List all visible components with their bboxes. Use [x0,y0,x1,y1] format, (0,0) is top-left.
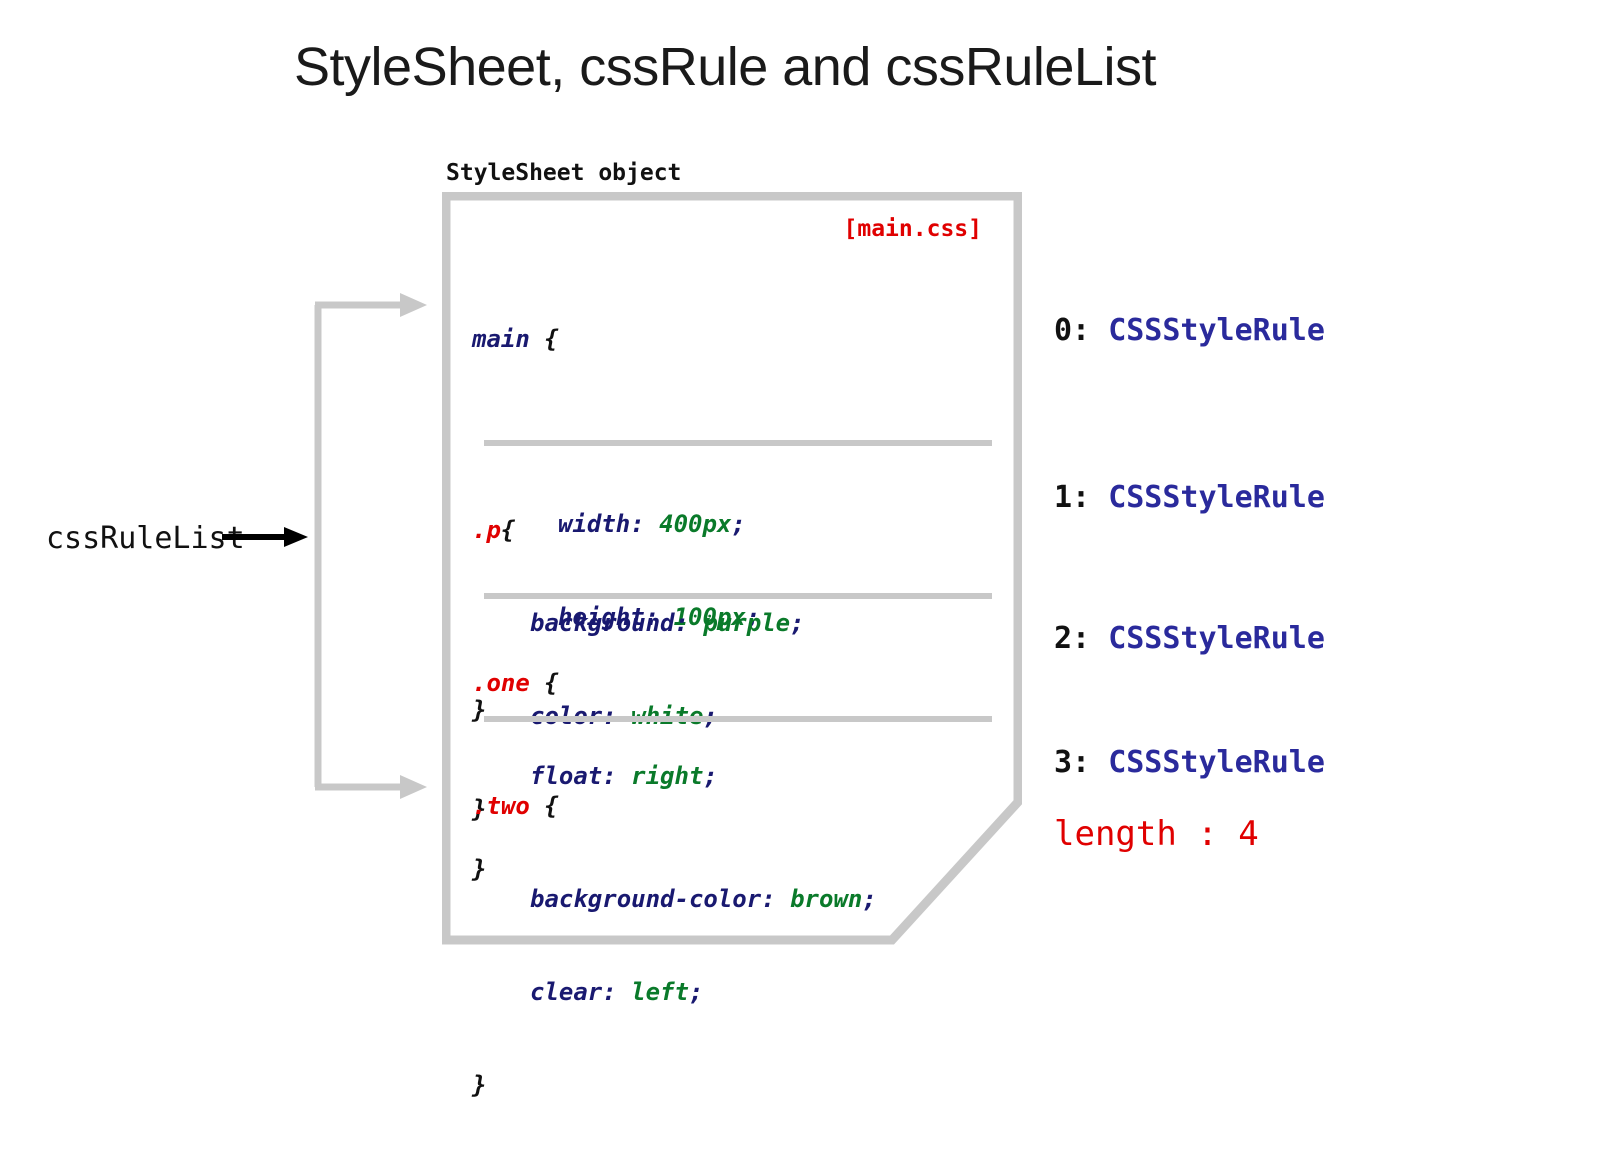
stylesheet-object-caption: StyleSheet object [446,160,681,186]
cssrulelist-bracket-connector [300,286,435,810]
rule-type-3: CSSStyleRule [1108,745,1325,780]
css-rule-3-value-1: left [631,978,689,1006]
css-rule-3-value-0: brown [790,885,862,913]
rule-index-label-1: 1: CSSStyleRule [1054,480,1325,515]
rule-index-label-0: 0: CSSStyleRule [1054,313,1325,348]
css-rule-1-open-brace: { [501,516,515,544]
css-rule-2-selector: .one [472,669,530,697]
css-rule-3-declaration-1: clear: left; [472,977,1012,1008]
cssrulelist-arrow-icon [222,524,308,554]
colon-icon: : [602,978,631,1006]
css-rule-3-declaration-0: background-color: brown; [472,884,1012,915]
rule-type-1: CSSStyleRule [1108,480,1325,515]
colon-icon: : [761,885,790,913]
css-rule-1-selector-line: .p{ [472,515,1012,546]
rule-index-1: 1: [1054,480,1090,515]
css-rule-0-selector-line: main { [472,324,1012,355]
css-rule-3-selector-line: .two { [472,791,1012,822]
stylesheet-box-content: [main.css] main { width: 400px; height: … [458,200,1018,952]
css-rule-2-open-brace: { [530,669,559,697]
page-title: StyleSheet, cssRule and cssRuleList [0,36,1450,98]
rule-type-2: CSSStyleRule [1108,621,1325,656]
rule-index-3: 3: [1054,745,1090,780]
css-rule-block-3: .two { background-color: brown; clear: l… [472,729,1012,1163]
css-rule-3-selector: .two [472,792,530,820]
css-rule-2-selector-line: .one { [472,668,1012,699]
rule-index-label-3: 3: CSSStyleRule [1054,745,1325,780]
css-rule-0-selector: main [472,325,530,353]
css-rule-3-close-brace: } [472,1071,486,1099]
css-rule-1-selector: .p [472,516,501,544]
rule-index-0: 0: [1054,313,1090,348]
css-rule-3-close-line: } [472,1070,1012,1101]
rule-type-0: CSSStyleRule [1108,313,1325,348]
css-rule-3-property-0: background-color [530,885,761,913]
rule-separator-2 [484,593,992,599]
rule-index-label-2: 2: CSSStyleRule [1054,621,1325,656]
rule-index-2: 2: [1054,621,1090,656]
semicolon-icon: ; [862,885,876,913]
css-rule-3-property-1: clear [530,978,602,1006]
css-rule-0-open-brace: { [530,325,559,353]
rule-separator-1 [484,440,992,446]
cssrulelist-length-label: length : 4 [1054,814,1259,854]
rule-separator-3 [484,716,992,722]
css-file-label: [main.css] [844,216,982,242]
css-rule-3-open-brace: { [530,792,559,820]
semicolon-icon: ; [689,978,703,1006]
cssrulelist-label: cssRuleList [46,521,245,556]
